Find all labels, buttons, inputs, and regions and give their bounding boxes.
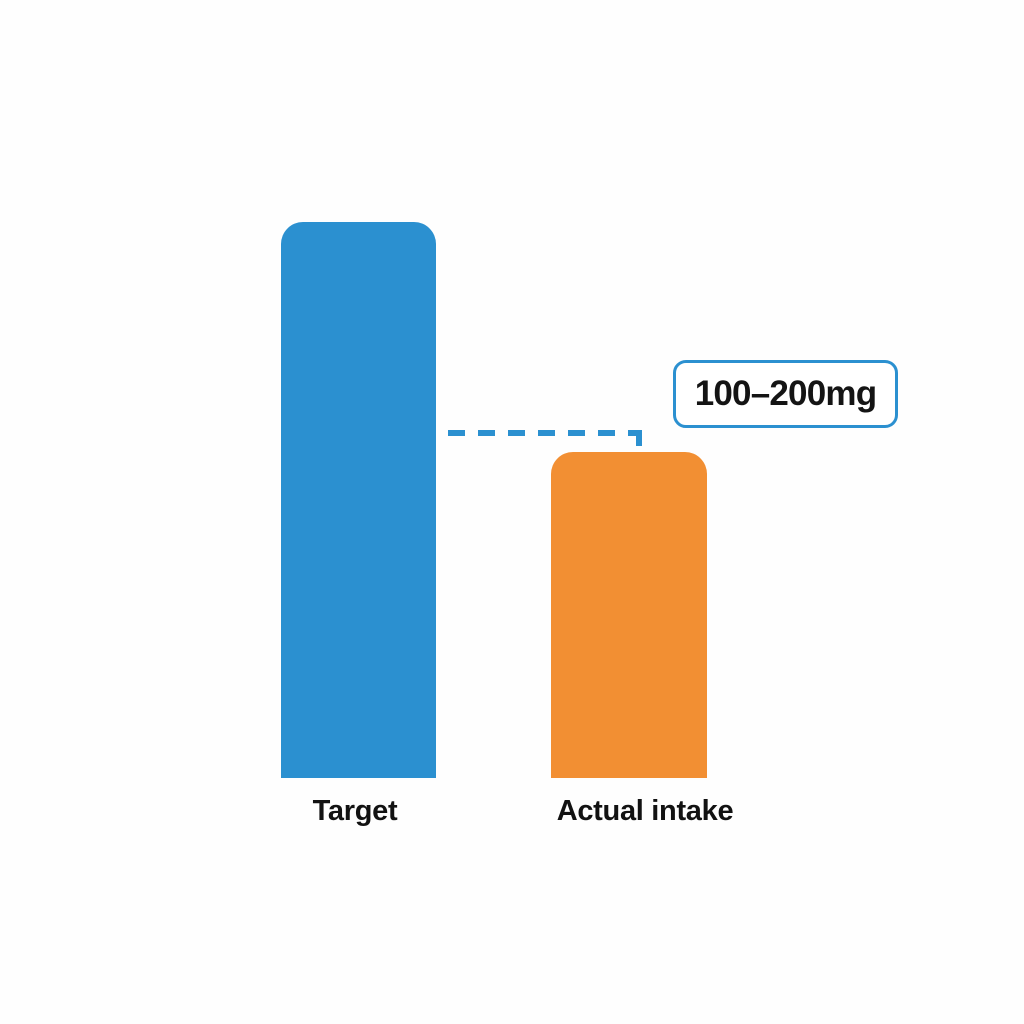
bar-label-target: Target xyxy=(313,795,398,828)
bar-actual-intake[interactable] xyxy=(551,452,707,778)
dosage-callout-box[interactable]: 100–200mg xyxy=(673,360,898,428)
dashed-connector-line xyxy=(440,415,655,460)
bar-target[interactable] xyxy=(281,222,436,778)
dosage-callout-label: 100–200mg xyxy=(695,374,877,414)
bar-label-actual-intake: Actual intake xyxy=(557,795,734,828)
chart-canvas: 100–200mg Target Actual intake xyxy=(0,0,1024,1024)
